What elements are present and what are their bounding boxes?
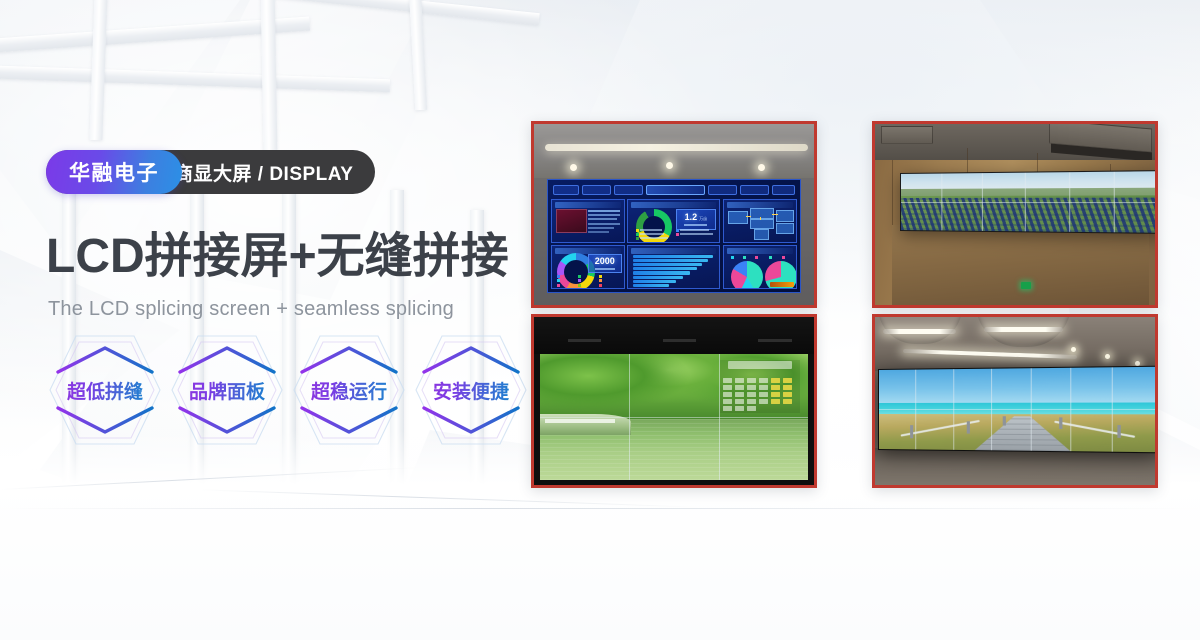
calendar-cell <box>735 406 744 411</box>
pie-legend-dot-4 <box>769 256 772 259</box>
calendar-cell <box>723 399 732 404</box>
photo-1-inner: 1.2 万亩 <box>534 124 814 305</box>
calendar-cell <box>735 385 744 390</box>
photo-2-inner <box>875 124 1155 305</box>
feature-hexagon-row: 超低拼缝 品牌面板 <box>46 330 530 450</box>
rope-post-5 <box>1117 425 1120 439</box>
calendar-cell <box>759 399 768 404</box>
calendar-cell <box>759 378 768 383</box>
bar-row-2 <box>633 259 708 262</box>
feature-hexagon-1[interactable]: 超低拼缝 <box>46 330 164 450</box>
calendar-cell <box>747 399 756 404</box>
screen-bezel-h-1 <box>879 410 1155 411</box>
brand-name-label: 华融电子 <box>69 157 159 187</box>
legend-dot-11 <box>599 279 602 282</box>
dashboard-nav-chip-2 <box>582 185 611 196</box>
flow-map-cell-6 <box>754 229 769 239</box>
calendar-title <box>728 361 793 368</box>
beach-boardwalk-video-wall <box>878 366 1155 454</box>
beach-sky <box>879 367 1155 405</box>
calendar-cell <box>783 392 792 397</box>
flow-map-cell-2 <box>750 208 774 218</box>
legend-dot-3 <box>636 237 639 240</box>
bar-row-5 <box>633 271 690 274</box>
calendar-cell <box>723 385 732 390</box>
garden-pond-video-wall <box>540 354 809 480</box>
calendar-cell <box>735 392 744 397</box>
pie-legend-dot-5 <box>782 256 785 259</box>
stat-primary-unit: 万亩 <box>699 216 707 222</box>
legend-dot-7 <box>578 275 581 278</box>
legend-dot-4 <box>676 229 679 232</box>
calendar-cell <box>771 378 780 383</box>
headline: LCD拼接屏+无缝拼接 <box>46 230 509 284</box>
legend-dot-13 <box>578 284 581 287</box>
ceiling-mark-1 <box>568 339 602 342</box>
dashboard-nav-chip-5 <box>740 185 769 196</box>
flow-map-cell-1 <box>728 211 747 224</box>
flow-map-cell-4 <box>750 219 774 229</box>
dashboard-panel-bar-list <box>627 245 720 289</box>
calendar-cell <box>759 392 768 397</box>
promotional-banner: 商显大屏 / DISPLAY 华融电子 LCD拼接屏+无缝拼接 The LCD … <box>0 0 1200 640</box>
bar-row-4 <box>633 267 697 270</box>
dashboard-panel-area-stat: 1.2 万亩 <box>627 199 720 243</box>
brand-badge: 商显大屏 / DISPLAY 华融电子 <box>46 150 375 194</box>
ceiling-panel-2a <box>881 126 933 144</box>
dashboard-panel-overview <box>551 199 625 243</box>
dashboard-header-bar <box>551 183 798 197</box>
flow-map-cell-3 <box>776 210 794 222</box>
brand-category-label: 商显大屏 / DISPLAY <box>174 159 353 186</box>
pie-legend-dot-3 <box>755 256 758 259</box>
strip-light-1 <box>883 329 956 334</box>
legend-dot-12 <box>557 284 560 287</box>
legend-dot-6 <box>557 275 560 278</box>
photo-wood-room-solar-wall[interactable] <box>872 121 1158 308</box>
pie-legend-dot-1 <box>731 256 734 259</box>
stat-box-secondary: 2000 <box>588 254 622 273</box>
calendar-cell <box>747 406 756 411</box>
calendar-cell <box>783 399 792 404</box>
ceiling-1 <box>534 124 814 178</box>
bar-row-7 <box>633 280 676 283</box>
legend-dot-5 <box>676 233 679 236</box>
legend-dot-14 <box>599 284 602 287</box>
rope-post-2 <box>966 421 969 434</box>
dark-ceiling-3 <box>534 317 814 354</box>
calendar-cell <box>747 392 756 397</box>
calendar-cell <box>723 406 732 411</box>
photo-lobby-beach-wall[interactable] <box>872 314 1158 488</box>
dashboard-panel-grid: 1.2 万亩 <box>551 199 798 289</box>
calendar-cell <box>759 385 768 390</box>
brand-name-pill: 华融电子 <box>46 150 182 194</box>
bar-row-1 <box>633 255 713 258</box>
feature-hexagon-2[interactable]: 品牌面板 <box>168 330 286 450</box>
dashboard-nav-chip-6 <box>772 185 796 196</box>
rope-post-3 <box>1002 416 1005 426</box>
legend-dot-8 <box>599 275 602 278</box>
screen-bezel-h-1 <box>901 202 1155 203</box>
ceiling-mark-2 <box>663 339 697 342</box>
stat-primary-value: 1.2 <box>685 213 698 222</box>
dashboard-title-chip <box>646 185 705 196</box>
photo-4-inner <box>875 317 1155 485</box>
pond-railing <box>545 419 615 423</box>
ceiling-spot-2 <box>666 162 673 169</box>
stat-secondary-value: 2000 <box>595 257 615 266</box>
pie-chart-1 <box>731 261 763 290</box>
calendar-cell <box>735 399 744 404</box>
calendar-cell <box>783 378 792 383</box>
legend-dot-10 <box>578 279 581 282</box>
legend-dot-2 <box>636 233 639 236</box>
dashboard-nav-chip-1 <box>553 185 579 196</box>
feature-label-1: 超低拼缝 <box>67 377 143 404</box>
floor-4 <box>875 448 1155 485</box>
legend-dot-9 <box>557 279 560 282</box>
calendar-cell <box>723 392 732 397</box>
subheadline: The LCD splicing screen + seamless splic… <box>48 298 454 321</box>
feature-label-3: 超稳运行 <box>311 377 387 404</box>
downlight-2 <box>1105 354 1110 359</box>
stat-box-primary: 1.2 万亩 <box>676 209 716 229</box>
cove-light-1 <box>545 144 808 151</box>
dashboard-nav-chip-4 <box>708 185 737 196</box>
feature-hexagon-3[interactable]: 超稳运行 <box>290 330 408 450</box>
calendar-cell <box>771 392 780 397</box>
calendar-cell <box>783 385 792 390</box>
dashboard-panel-flow-map <box>723 199 797 243</box>
strip-light-2 <box>984 327 1062 332</box>
flow-map-cell-5 <box>776 223 794 234</box>
rope-post-4 <box>1059 418 1062 430</box>
calendar-cell <box>723 378 732 383</box>
calendar-overlay <box>720 360 801 413</box>
dashboard-nav-chip-3 <box>614 185 643 196</box>
bar-row-8 <box>633 284 669 287</box>
calendar-cell <box>771 399 780 404</box>
photo-garden-pond-wall[interactable] <box>531 314 817 488</box>
ceiling-spot-3 <box>758 164 765 171</box>
feature-label-2: 品牌面板 <box>189 377 265 404</box>
feature-hexagon-4[interactable]: 安装便捷 <box>412 330 530 450</box>
rope-post-1 <box>910 425 913 438</box>
left-content-column: 商显大屏 / DISPLAY 华融电子 LCD拼接屏+无缝拼接 The LCD … <box>46 0 566 640</box>
screen-bezel-h-1 <box>540 417 809 418</box>
feature-label-4: 安装便捷 <box>433 377 509 404</box>
exit-sign-icon <box>1021 282 1031 289</box>
bar-row-6 <box>633 276 683 279</box>
photo-control-room-dashboard[interactable]: 1.2 万亩 <box>531 121 817 308</box>
dashboard-panel-pie-charts <box>723 245 797 289</box>
calendar-cell <box>747 378 756 383</box>
ceiling-mark-3 <box>758 339 792 342</box>
calendar-cell <box>735 378 744 383</box>
pie-legend-dot-2 <box>743 256 746 259</box>
lower-wall-2 <box>892 225 1150 305</box>
bar-row-3 <box>633 263 702 266</box>
photo-3-inner <box>534 317 814 485</box>
legend-dot-1 <box>636 229 639 232</box>
calendar-cell <box>747 385 756 390</box>
dashboard-panel-count-stat: 2000 <box>551 245 625 289</box>
solar-farm-video-wall <box>900 170 1155 234</box>
dashboard-video-wall: 1.2 万亩 <box>547 179 802 293</box>
calendar-cell <box>771 385 780 390</box>
